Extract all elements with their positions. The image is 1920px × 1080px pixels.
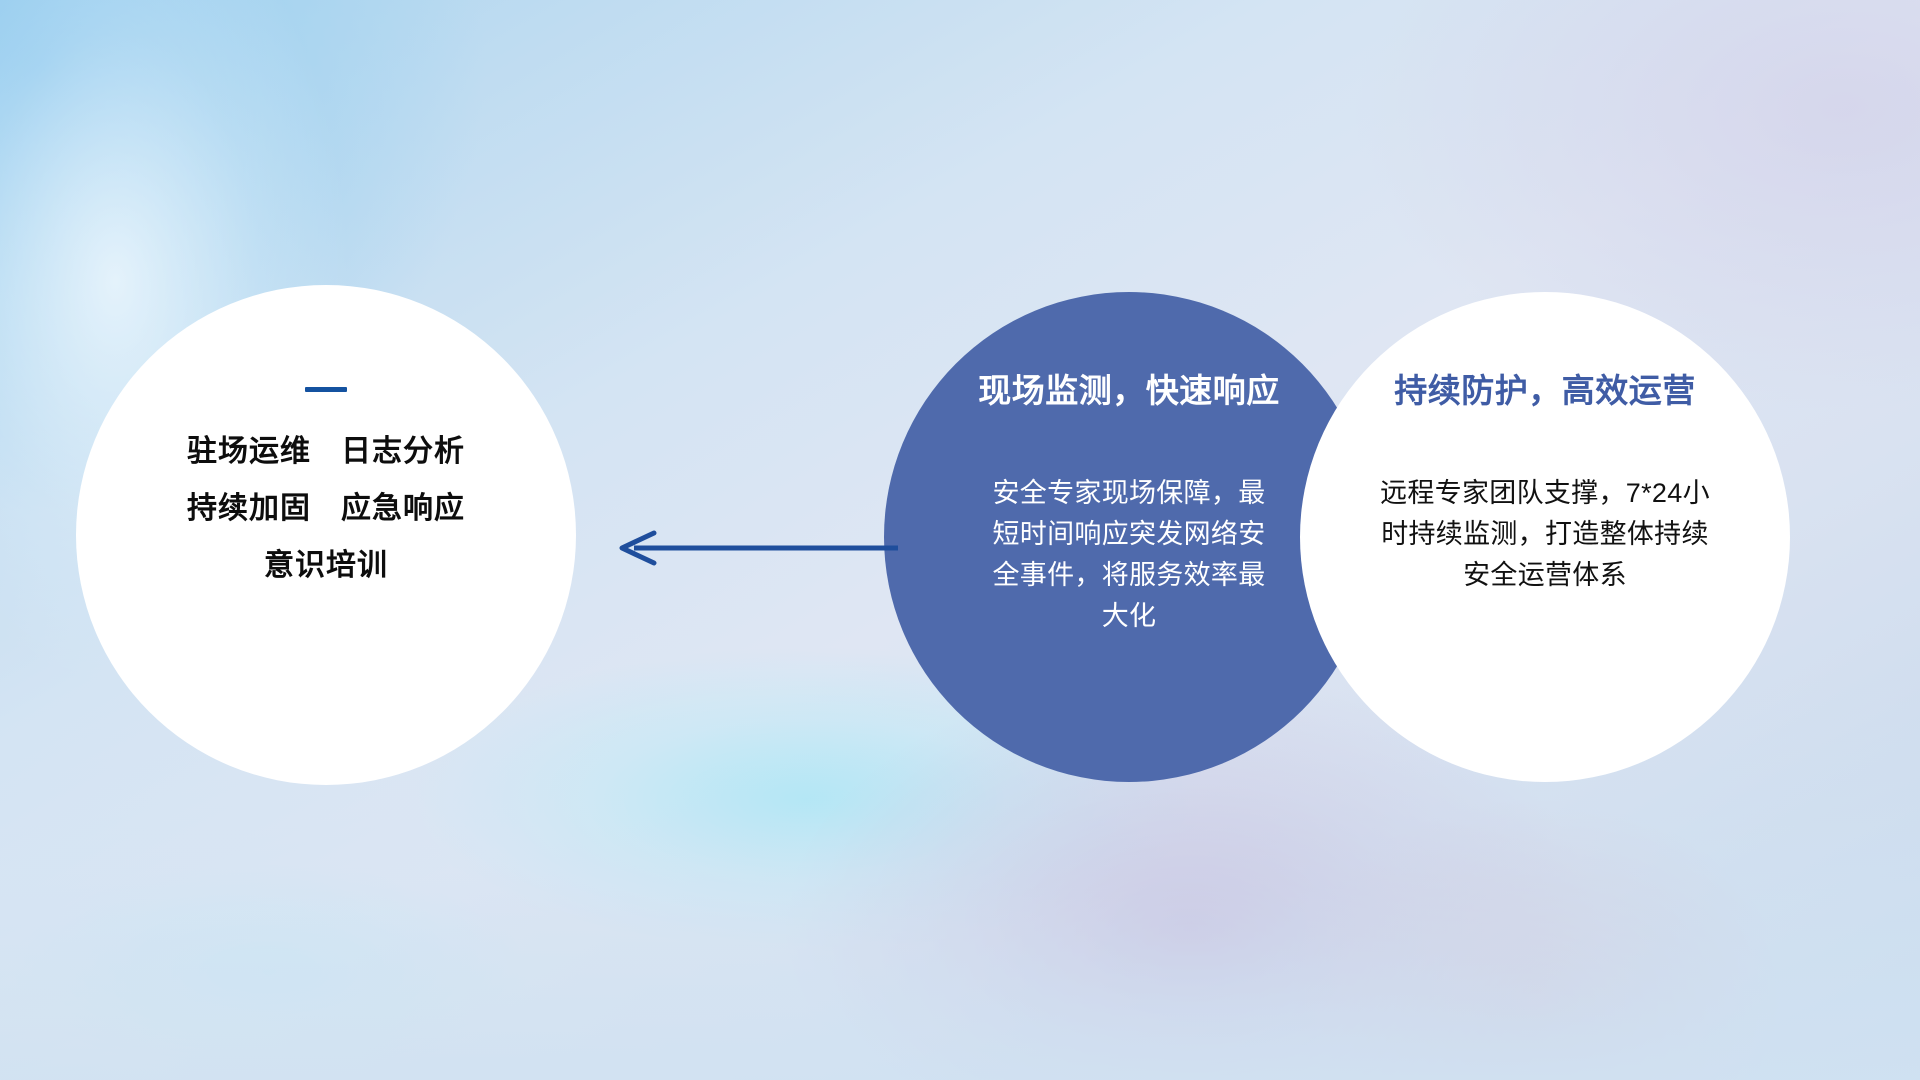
- divider-line: [305, 387, 347, 392]
- capability-item-continuous-hardening[interactable]: 持续加固: [187, 491, 311, 527]
- capability-row-2: 持续加固 应急响应: [187, 491, 465, 527]
- continuous-protection-title: 持续防护，高效运营: [1394, 370, 1696, 411]
- continuous-protection-circle[interactable]: 持续防护，高效运营 远程专家团队支撑，7*24小时持续监测，打造整体持续安全运营…: [1300, 292, 1790, 782]
- capability-item-emergency-response[interactable]: 应急响应: [341, 491, 465, 527]
- capability-item-log-analysis[interactable]: 日志分析: [341, 434, 465, 470]
- continuous-protection-body: 远程专家团队支撑，7*24小时持续监测，打造整体持续安全运营体系: [1369, 473, 1721, 596]
- capabilities-circle[interactable]: 驻场运维 日志分析 持续加固 应急响应 意识培训: [76, 285, 576, 785]
- capability-item-onsite-ops[interactable]: 驻场运维: [187, 434, 311, 470]
- capability-row-3: 意识培训: [264, 548, 388, 584]
- capability-item-awareness-training[interactable]: 意识培训: [264, 548, 388, 584]
- onsite-monitoring-title: 现场监测，快速响应: [978, 370, 1280, 411]
- capability-row-1: 驻场运维 日志分析: [187, 434, 465, 470]
- flow-arrow-left: [610, 522, 900, 574]
- onsite-monitoring-body: 安全专家现场保障，最短时间响应突发网络安全事件，将服务效率最大化: [979, 473, 1279, 637]
- slide-canvas: 驻场运维 日志分析 持续加固 应急响应 意识培训 现场监测，快速响应 安全专家现…: [0, 0, 1920, 1080]
